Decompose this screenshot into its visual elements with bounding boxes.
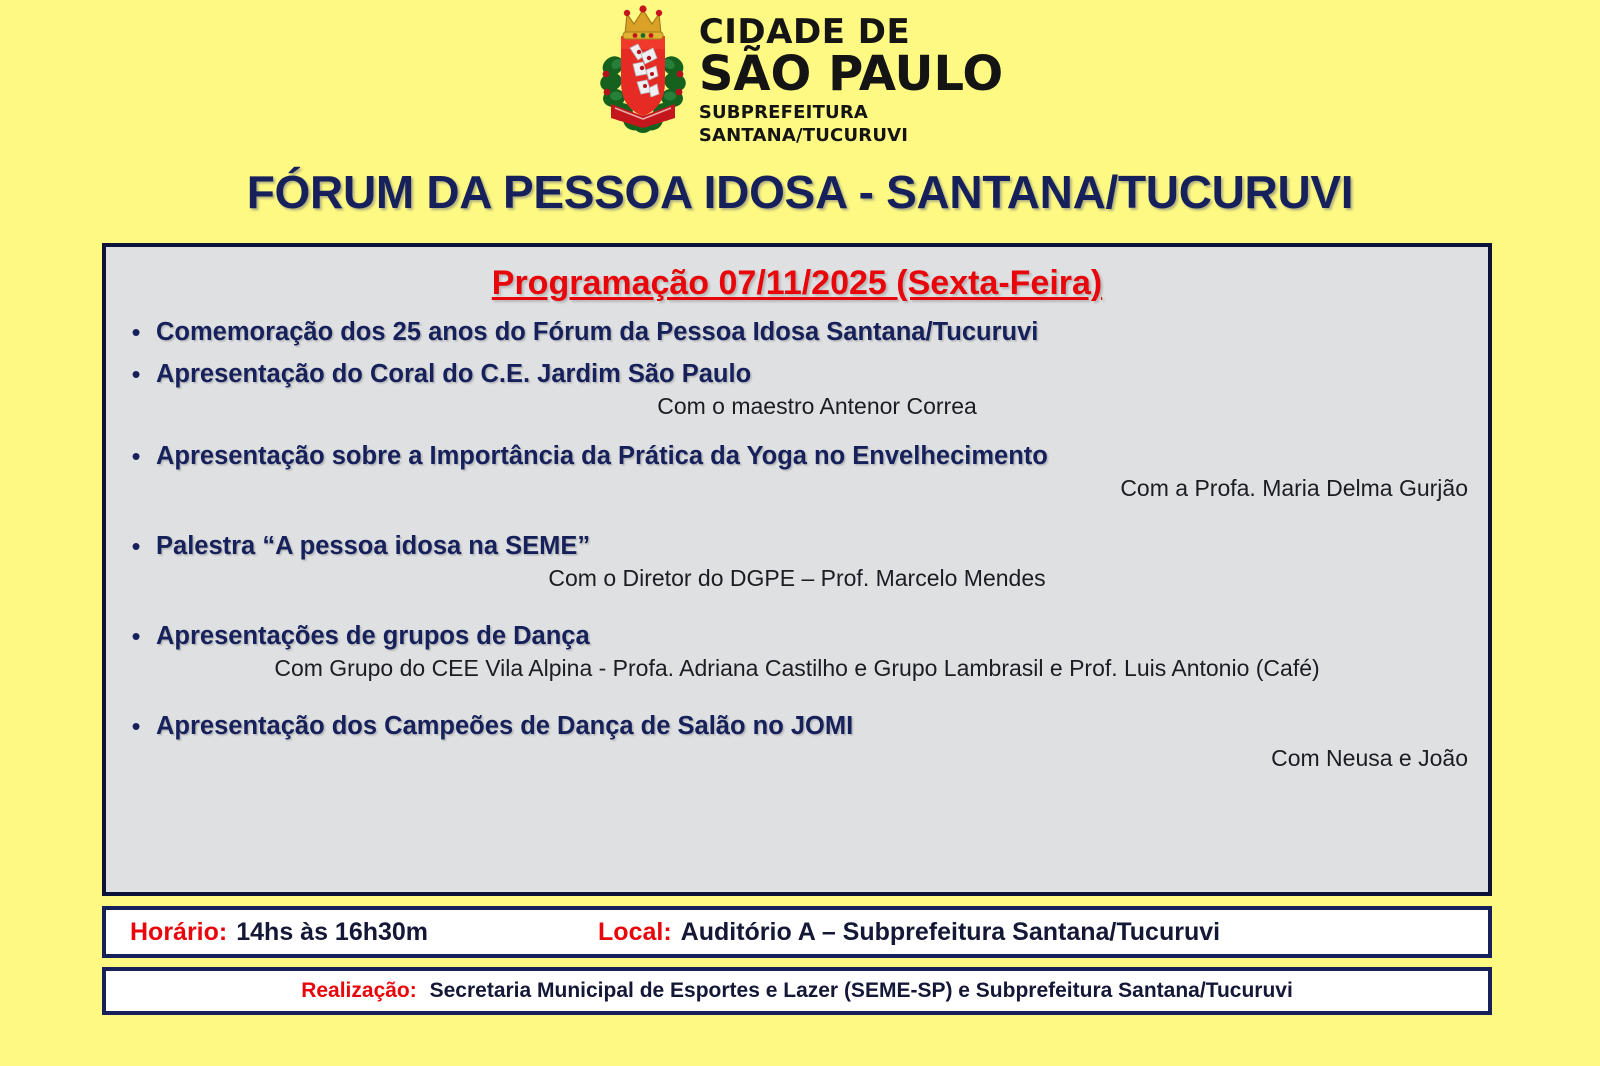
program-panel: Programação 07/11/2025 (Sexta-Feira) • C…: [102, 243, 1492, 896]
list-item-title: Apresentação sobre a Importância da Prát…: [156, 439, 1048, 473]
bullet-icon: •: [116, 619, 156, 653]
list-item-subtitle: Com a Profa. Maria Delma Gurjão: [116, 473, 1478, 503]
list-item-title: Apresentação do Coral do C.E. Jardim São…: [156, 357, 751, 391]
bullet-icon: •: [116, 439, 156, 473]
logo-line-subprefeitura: SUBPREFEITURA: [699, 102, 1003, 125]
program-heading: Programação 07/11/2025 (Sexta-Feira): [106, 264, 1488, 303]
list-item-subtitle: Com o Diretor do DGPE – Prof. Marcelo Me…: [116, 563, 1478, 593]
logo-line-cidade-de: CIDADE DE: [699, 16, 1003, 48]
list-item: • Apresentação do Coral do C.E. Jardim S…: [106, 357, 1488, 421]
local-value: Auditório A – Subprefeitura Santana/Tucu…: [681, 918, 1220, 947]
list-item: • Apresentação sobre a Importância da Pr…: [106, 439, 1488, 503]
realizacao-label: Realização:: [301, 979, 417, 1002]
list-item-title: Apresentações de grupos de Dança: [156, 619, 590, 653]
organizer-box: Realização: Secretaria Municipal de Espo…: [102, 967, 1492, 1015]
page-title: FÓRUM DA PESSOA IDOSA - SANTANA/TUCURUVI: [247, 165, 1354, 219]
list-item-subtitle: Com Neusa e João: [116, 743, 1478, 773]
list-item: • Comemoração dos 25 anos do Fórum da Pe…: [106, 315, 1488, 349]
logo-line-sao-paulo: SÃO PAULO: [699, 50, 1003, 98]
list-item-title: Apresentação dos Campeões de Dança de Sa…: [156, 709, 853, 743]
horario-value: 14hs às 16h30m: [236, 918, 428, 947]
list-item-title: Comemoração dos 25 anos do Fórum da Pess…: [156, 315, 1038, 349]
local-label: Local:: [598, 918, 672, 947]
logo-wordmark: CIDADE DE SÃO PAULO SUBPREFEITURA SANTAN…: [699, 4, 1003, 147]
list-item-title: Palestra “A pessoa idosa na SEME”: [156, 529, 590, 563]
institutional-logo: CIDADE DE SÃO PAULO SUBPREFEITURA SANTAN…: [597, 4, 1003, 159]
list-item-subtitle: Com o maestro Antenor Correa: [116, 391, 1478, 421]
bullet-icon: •: [116, 709, 156, 743]
list-item: • Palestra “A pessoa idosa na SEME” Com …: [106, 529, 1488, 593]
horario-label: Horário:: [130, 918, 227, 947]
logo-line-santana-tucuruvi: SANTANA/TUCURUVI: [699, 125, 1003, 148]
list-item: • Apresentações de grupos de Dança Com G…: [106, 619, 1488, 683]
list-item: • Apresentação dos Campeões de Dança de …: [106, 709, 1488, 773]
schedule-location-box: Horário: 14hs às 16h30m Local: Auditório…: [102, 906, 1492, 958]
bullet-icon: •: [116, 529, 156, 563]
bullet-icon: •: [116, 315, 156, 349]
list-item-subtitle: Com Grupo do CEE Vila Alpina - Profa. Ad…: [116, 653, 1478, 683]
sao-paulo-coat-of-arms-icon: [597, 4, 689, 144]
bullet-icon: •: [116, 357, 156, 391]
realizacao-value: Secretaria Municipal de Esportes e Lazer…: [430, 979, 1293, 1002]
poster-header: CIDADE DE SÃO PAULO SUBPREFEITURA SANTAN…: [0, 0, 1600, 219]
program-item-list: • Comemoração dos 25 anos do Fórum da Pe…: [106, 315, 1488, 773]
